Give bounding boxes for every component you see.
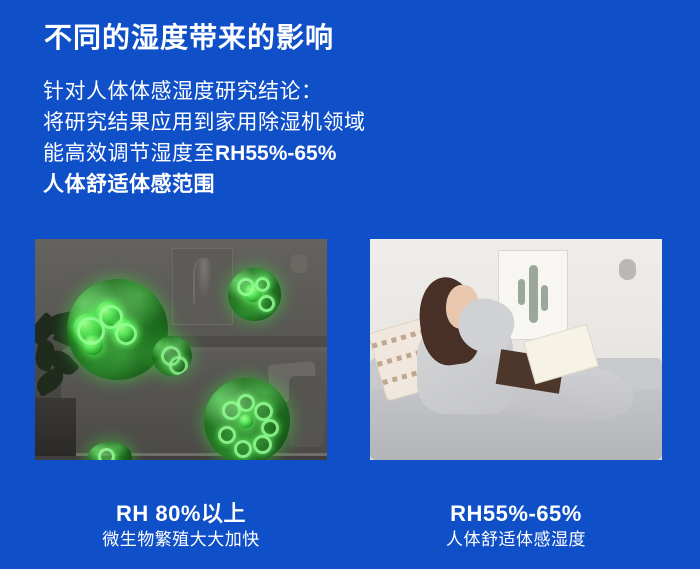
microbe-sphere	[152, 336, 192, 376]
sofa-armrest	[289, 376, 324, 447]
body-line-3: 能高效调节湿度至RH55%-65%	[43, 138, 366, 169]
microbe-ring	[234, 440, 252, 458]
microbe-ring	[98, 448, 115, 460]
microbe-ring	[253, 435, 272, 454]
wall-speaker	[619, 259, 636, 280]
microbe-sphere	[228, 268, 281, 321]
body-copy: 针对人体体感湿度研究结论： 将研究结果应用到家用除湿机领域 能高效调节湿度至RH…	[43, 76, 366, 200]
page-title: 不同的湿度带来的影响	[44, 21, 334, 55]
body-line-4: 人体舒适体感范围	[43, 169, 366, 200]
bright-living-room-scene	[370, 239, 662, 460]
caption-comfort-humidity: RH55%-65% 人体舒适体感湿度	[370, 500, 662, 553]
caption-title: RH 80%以上	[35, 500, 327, 527]
microbe-sphere	[204, 378, 290, 460]
body-line-3-prefix: 能高效调节湿度至	[43, 142, 215, 165]
caption-subtitle: 人体舒适体感湿度	[370, 527, 662, 553]
panel-image-comfort-humidity	[370, 239, 662, 460]
wall-speaker	[291, 254, 307, 273]
microbe-cell	[239, 414, 253, 428]
wall-art-frame	[172, 248, 232, 325]
dim-living-room-scene	[35, 239, 327, 460]
caption-title: RH55%-65%	[370, 500, 662, 527]
body-line-1: 针对人体体感湿度研究结论：	[43, 76, 366, 107]
body-line-2: 将研究结果应用到家用除湿机领域	[43, 107, 366, 138]
body-line-3-emphasis: RH55%-65%	[215, 142, 336, 165]
caption-high-humidity: RH 80%以上 微生物繁殖大大加快	[35, 500, 327, 553]
microbe-ring	[237, 394, 255, 412]
panel-image-high-humidity	[35, 239, 327, 460]
microbe-ring	[115, 323, 137, 345]
microbe-sphere	[88, 442, 132, 460]
caption-subtitle: 微生物繁殖大大加快	[35, 527, 327, 553]
humidity-infographic-poster: 不同的湿度带来的影响 针对人体体感湿度研究结论： 将研究结果应用到家用除湿机领域…	[0, 0, 700, 569]
cactus-icon	[529, 265, 538, 323]
